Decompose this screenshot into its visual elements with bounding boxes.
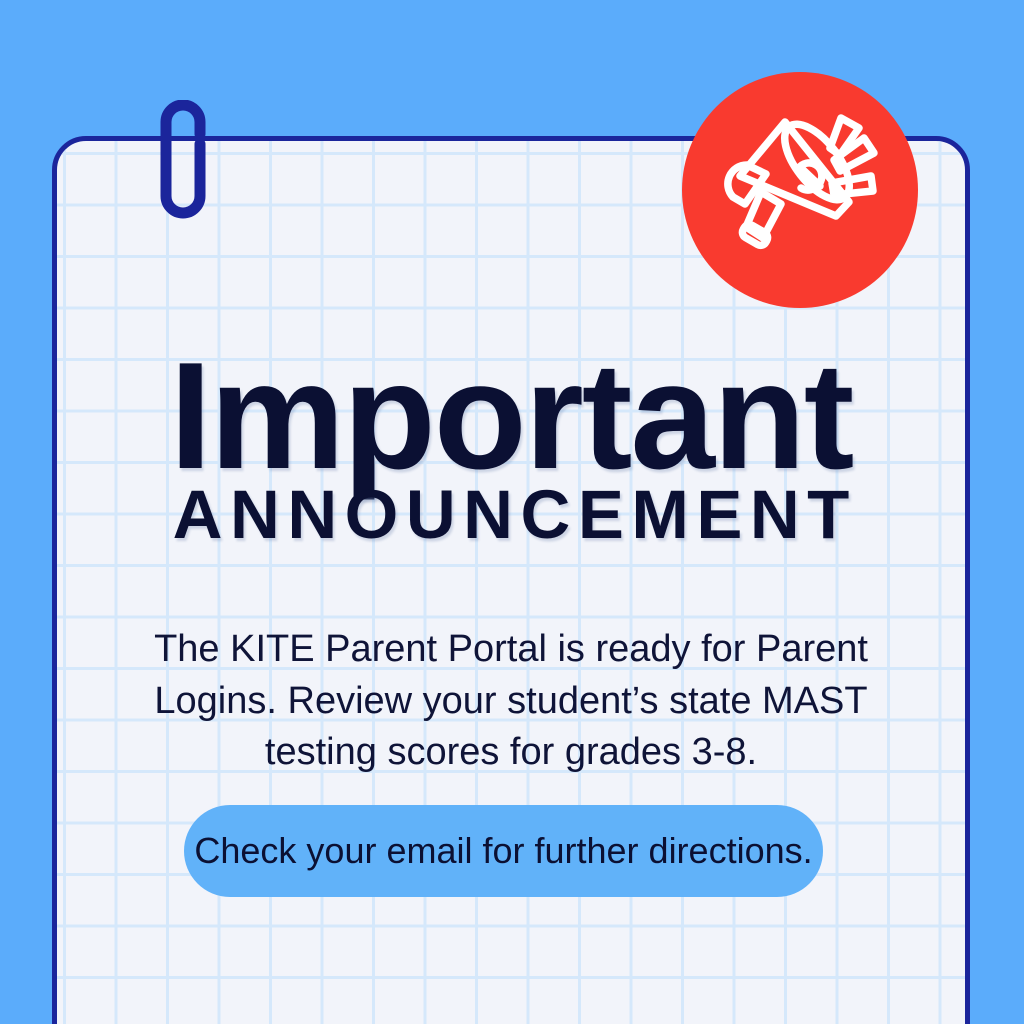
- announcement-poster: Important ANNOUNCEMENT The KITE Parent P…: [0, 0, 1024, 1024]
- page-subtitle: ANNOUNCEMENT: [52, 480, 970, 549]
- body-paragraph: The KITE Parent Portal is ready for Pare…: [131, 624, 891, 779]
- page-title: Important: [52, 340, 970, 492]
- cta-button[interactable]: Check your email for further directions.: [184, 805, 823, 897]
- poster-content: Important ANNOUNCEMENT The KITE Parent P…: [52, 136, 970, 1024]
